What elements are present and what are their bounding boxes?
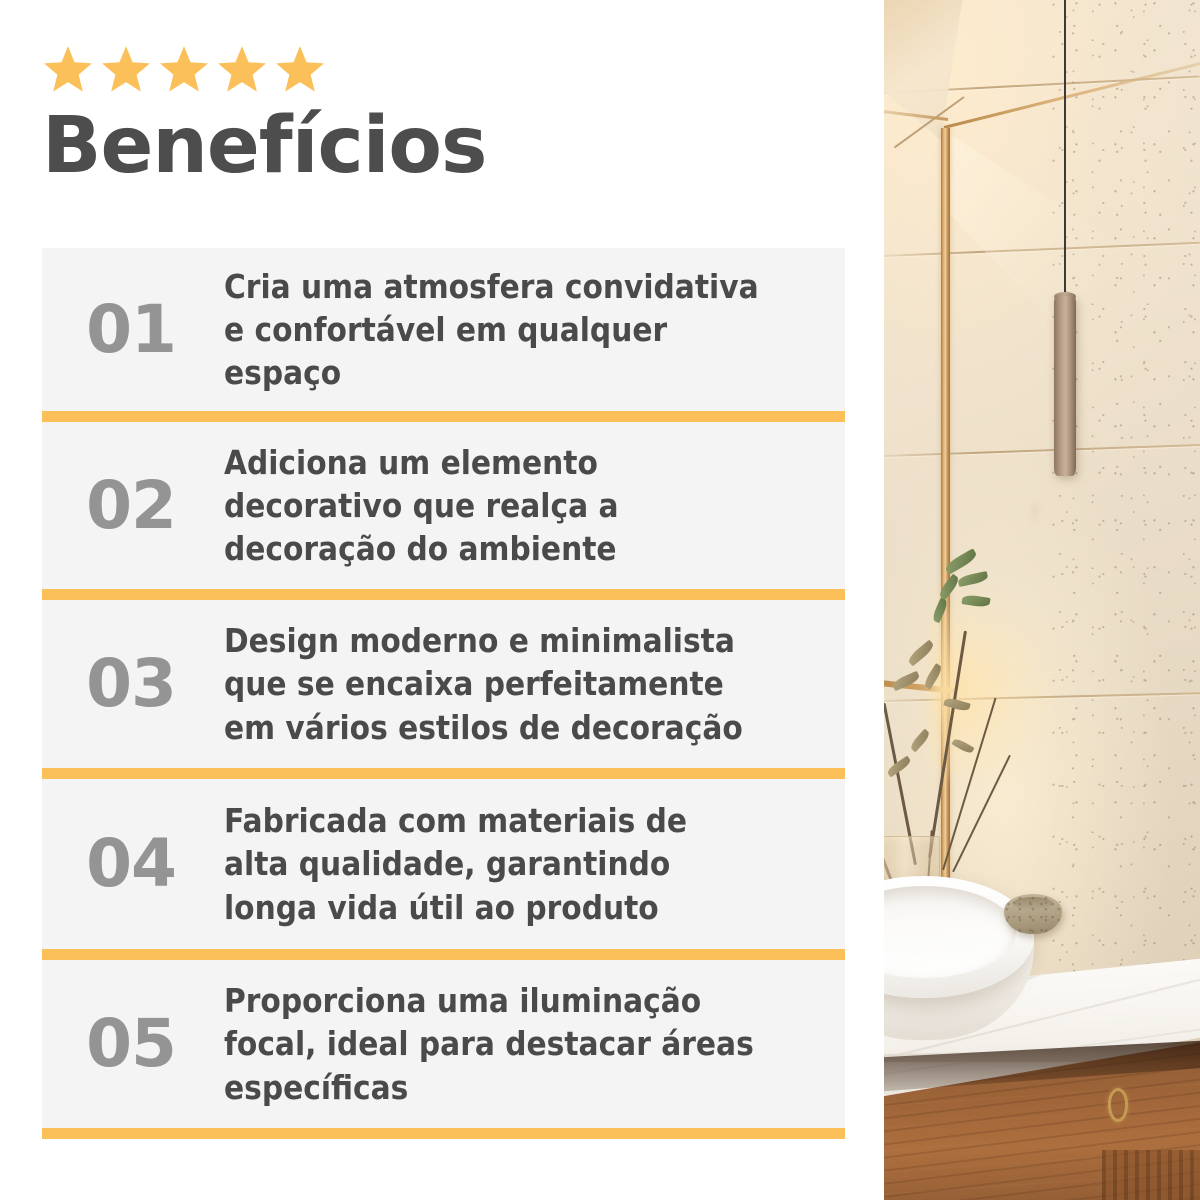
benefit-divider <box>42 589 845 600</box>
vanity-slats <box>1102 1150 1200 1200</box>
benefit-number: 05 <box>42 1011 224 1077</box>
benefit-card: 04Fabricada com materiais de alta qualid… <box>42 779 845 949</box>
benefit-card: 01Cria uma atmosfera convidativa e confo… <box>42 248 845 411</box>
benefit-number: 02 <box>42 473 224 539</box>
benefit-card: 03Design moderno e minimalista que se en… <box>42 600 845 768</box>
benefit-number: 04 <box>42 831 224 897</box>
benefit-text: Proporciona uma iluminação focal, ideal … <box>224 979 783 1109</box>
star-rating <box>42 44 326 96</box>
star-icon <box>216 44 268 96</box>
pendant-cord <box>1064 0 1066 298</box>
benefit-divider <box>42 768 845 779</box>
benefit-number: 01 <box>42 297 224 363</box>
star-icon <box>42 44 94 96</box>
pendant-lamp <box>1054 296 1076 476</box>
star-icon <box>158 44 210 96</box>
page-title: Benefícios <box>42 104 486 188</box>
benefit-number: 03 <box>42 651 224 717</box>
benefit-text: Adiciona um elemento decorativo que real… <box>224 441 783 571</box>
plant-shadow <box>1034 505 1200 835</box>
star-icon <box>100 44 152 96</box>
bathroom-photo <box>884 0 1200 1200</box>
benefit-text: Fabricada com materiais de alta qualidad… <box>224 799 783 929</box>
benefit-card: 05Proporciona uma iluminação focal, idea… <box>42 960 845 1128</box>
soap-dish-texture <box>1004 894 1062 934</box>
benefits-list: 01Cria uma atmosfera convidativa e confo… <box>42 248 845 1139</box>
benefits-poster: Benefícios 01Cria uma atmosfera convidat… <box>0 0 1200 1200</box>
benefit-divider <box>42 411 845 422</box>
benefit-divider <box>42 949 845 960</box>
benefit-text: Cria uma atmosfera convidativa e confort… <box>224 265 783 395</box>
content-panel: Benefícios 01Cria uma atmosfera convidat… <box>0 0 884 1200</box>
brass-drawer-pull <box>1108 1088 1128 1122</box>
benefit-divider <box>42 1128 845 1139</box>
benefit-text: Design moderno e minimalista que se enca… <box>224 619 783 749</box>
benefit-card: 02Adiciona um elemento decorativo que re… <box>42 422 845 589</box>
star-icon <box>274 44 326 96</box>
